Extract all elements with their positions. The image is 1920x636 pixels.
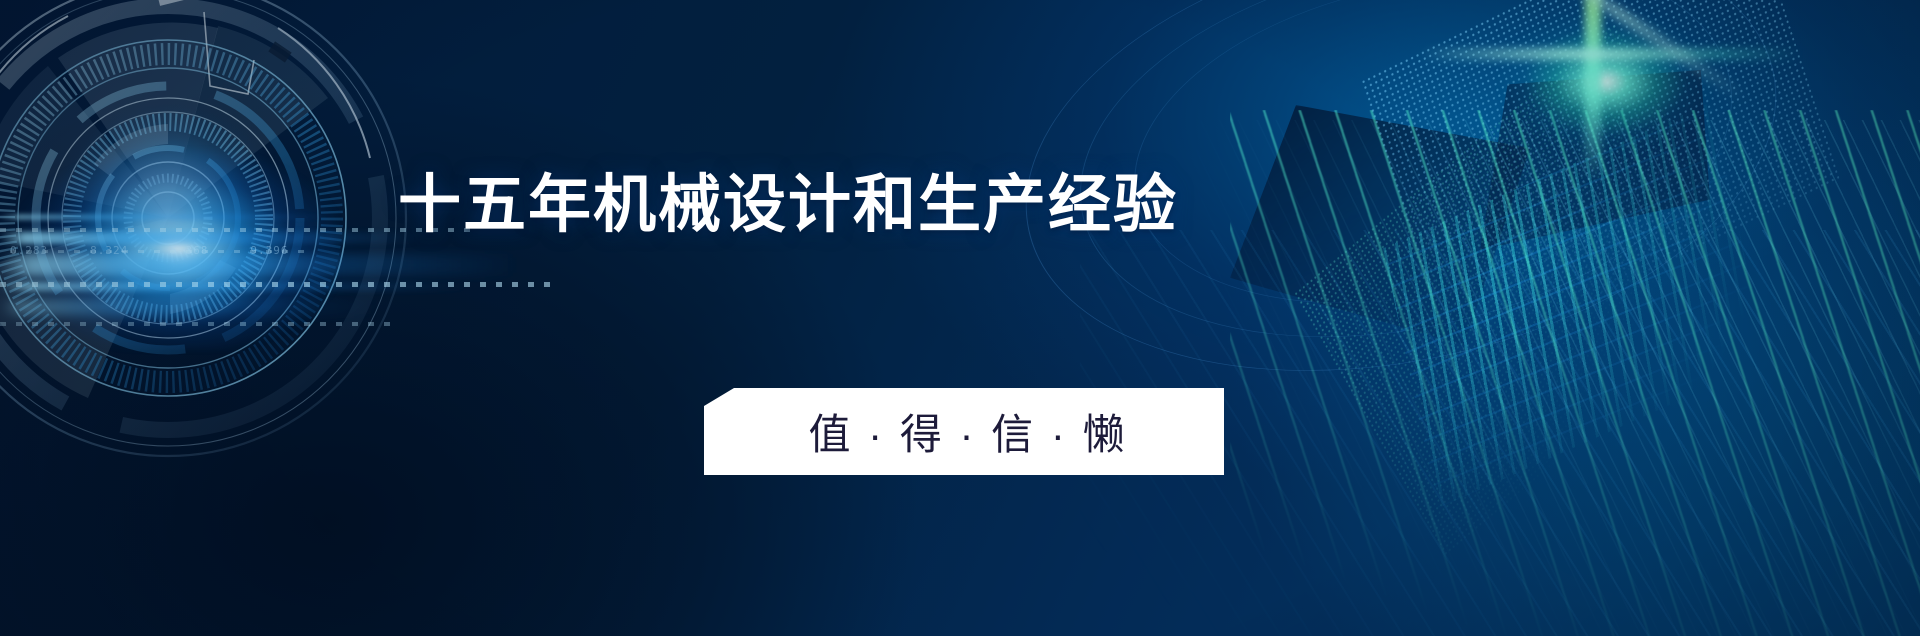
banner-tagline-badge: 值 · 得 · 信 · 懒 xyxy=(704,388,1224,475)
hud-ring-graphic-icon xyxy=(0,0,418,468)
hero-banner: 0.283 8.324 5.368 9.396 十五年机械设计和生产经验 值 ·… xyxy=(0,0,1920,636)
banner-headline: 十五年机械设计和生产经验 xyxy=(398,170,1198,241)
banner-tagline-text: 值 · 得 · 信 · 懒 xyxy=(801,401,1128,462)
